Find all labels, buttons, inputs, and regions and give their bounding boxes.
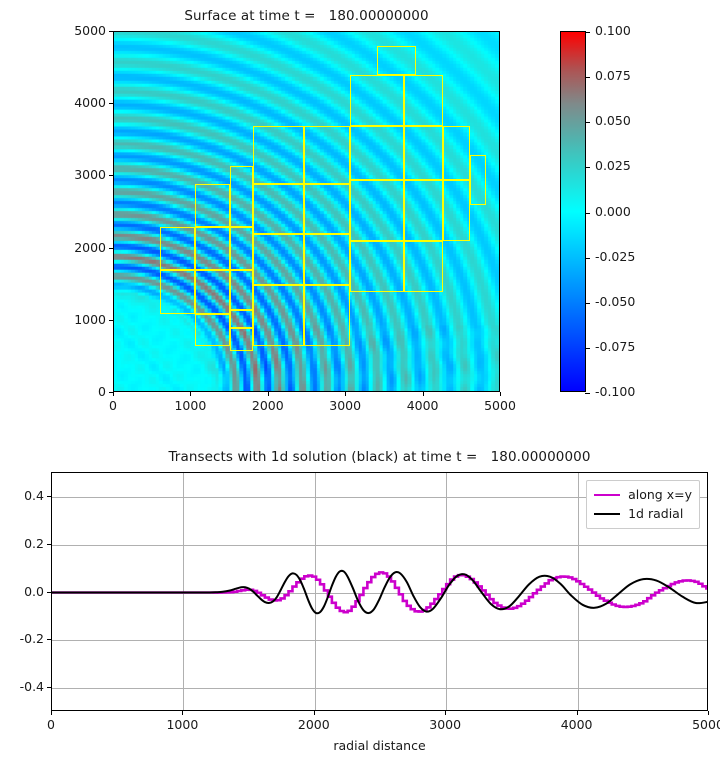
transect-x-tick-mark [51, 711, 52, 715]
surface-y-tick-label: 3000 [27, 167, 106, 182]
surface-x-tick-mark [113, 392, 114, 396]
legend-swatch-1d-radial [594, 513, 620, 515]
colorbar-tick-mark [585, 77, 590, 78]
colorbar-tick-mark [585, 122, 590, 123]
curve-1d-radial [52, 571, 707, 613]
transect-x-tick-label: 1000 [142, 717, 222, 732]
surface-x-tick-label: 0 [73, 398, 153, 413]
surface-plot-axes[interactable] [113, 31, 500, 392]
transect-x-tick-label: 4000 [537, 717, 617, 732]
transect-legend[interactable]: along x=y 1d radial [586, 480, 700, 529]
surface-x-tick-label: 2000 [228, 398, 308, 413]
colorbar-tick-label: -0.075 [595, 339, 635, 354]
colorbar-tick-label: -0.100 [595, 384, 635, 399]
transect-y-tick-mark [47, 639, 51, 640]
transect-y-tick-label: -0.2 [4, 631, 44, 646]
transect-y-tick-mark [47, 687, 51, 688]
colorbar-tick-mark [585, 258, 590, 259]
transect-y-tick-label: -0.4 [4, 679, 44, 694]
surface-y-tick-label: 1000 [27, 312, 106, 327]
transect-x-tick-label: 3000 [405, 717, 485, 732]
colorbar-tick-mark [585, 393, 590, 394]
legend-label-along-xy: along x=y [628, 487, 692, 502]
transect-y-tick-label: 0.4 [4, 488, 44, 503]
legend-swatch-along-xy [594, 494, 620, 496]
transect-plot-axes[interactable]: along x=y 1d radial [51, 472, 708, 711]
surface-y-tick-label: 4000 [27, 95, 106, 110]
surface-x-tick-label: 5000 [460, 398, 540, 413]
legend-label-1d-radial: 1d radial [628, 506, 683, 521]
transect-x-tick-mark [182, 711, 183, 715]
surface-x-tick-mark [500, 392, 501, 396]
colorbar-tick-mark [585, 32, 590, 33]
colorbar-tick-mark [585, 303, 590, 304]
colorbar-tick-label: 0.050 [595, 113, 631, 128]
legend-item-1d-radial[interactable]: 1d radial [594, 504, 692, 523]
colorbar-tick-label: 0.025 [595, 158, 631, 173]
transect-y-tick-mark [47, 544, 51, 545]
transect-x-tick-label: 2000 [274, 717, 354, 732]
surface-x-tick-mark [190, 392, 191, 396]
transect-x-tick-label: 5000 [668, 717, 720, 732]
surface-y-tick-label: 5000 [27, 23, 106, 38]
figure-canvas: Surface at time t = 180.00000000 0100020… [0, 0, 720, 765]
colorbar-tick-label: -0.025 [595, 249, 635, 264]
surface-y-tick-label: 2000 [27, 240, 106, 255]
transect-x-tick-mark [708, 711, 709, 715]
transect-y-tick-label: 0.0 [4, 584, 44, 599]
surface-y-tick-label: 0 [27, 384, 106, 399]
surface-x-tick-mark [345, 392, 346, 396]
colorbar-tick-mark [585, 348, 590, 349]
legend-item-along-xy[interactable]: along x=y [594, 485, 692, 504]
surface-y-tick-mark [109, 175, 113, 176]
colorbar-tick-label: -0.050 [595, 294, 635, 309]
surface-x-tick-label: 3000 [305, 398, 385, 413]
surface-y-tick-mark [109, 320, 113, 321]
transect-x-tick-mark [314, 711, 315, 715]
transect-x-tick-mark [577, 711, 578, 715]
colorbar-tick-label: 0.075 [595, 68, 631, 83]
transect-plot-title: Transects with 1d solution (black) at ti… [51, 449, 708, 465]
surface-y-tick-mark [109, 248, 113, 249]
surface-x-tick-mark [423, 392, 424, 396]
colorbar-gradient [561, 32, 585, 391]
colorbar-axes[interactable] [560, 31, 586, 392]
transect-y-tick-mark [47, 592, 51, 593]
surface-y-tick-mark [109, 31, 113, 32]
surface-pcolor-image [114, 32, 499, 391]
surface-x-tick-mark [268, 392, 269, 396]
colorbar-tick-label: 0.100 [595, 23, 631, 38]
transect-y-tick-label: 0.2 [4, 536, 44, 551]
surface-y-tick-mark [109, 103, 113, 104]
colorbar-tick-label: 0.000 [595, 204, 631, 219]
transect-x-tick-mark [445, 711, 446, 715]
surface-x-tick-label: 4000 [383, 398, 463, 413]
surface-y-tick-mark [109, 392, 113, 393]
transect-x-axis-label: radial distance [51, 738, 708, 753]
surface-plot-title: Surface at time t = 180.00000000 [113, 8, 500, 24]
transect-y-tick-mark [47, 496, 51, 497]
surface-x-tick-label: 1000 [150, 398, 230, 413]
colorbar-tick-mark [585, 167, 590, 168]
transect-x-tick-label: 0 [11, 717, 91, 732]
colorbar-tick-mark [585, 213, 590, 214]
